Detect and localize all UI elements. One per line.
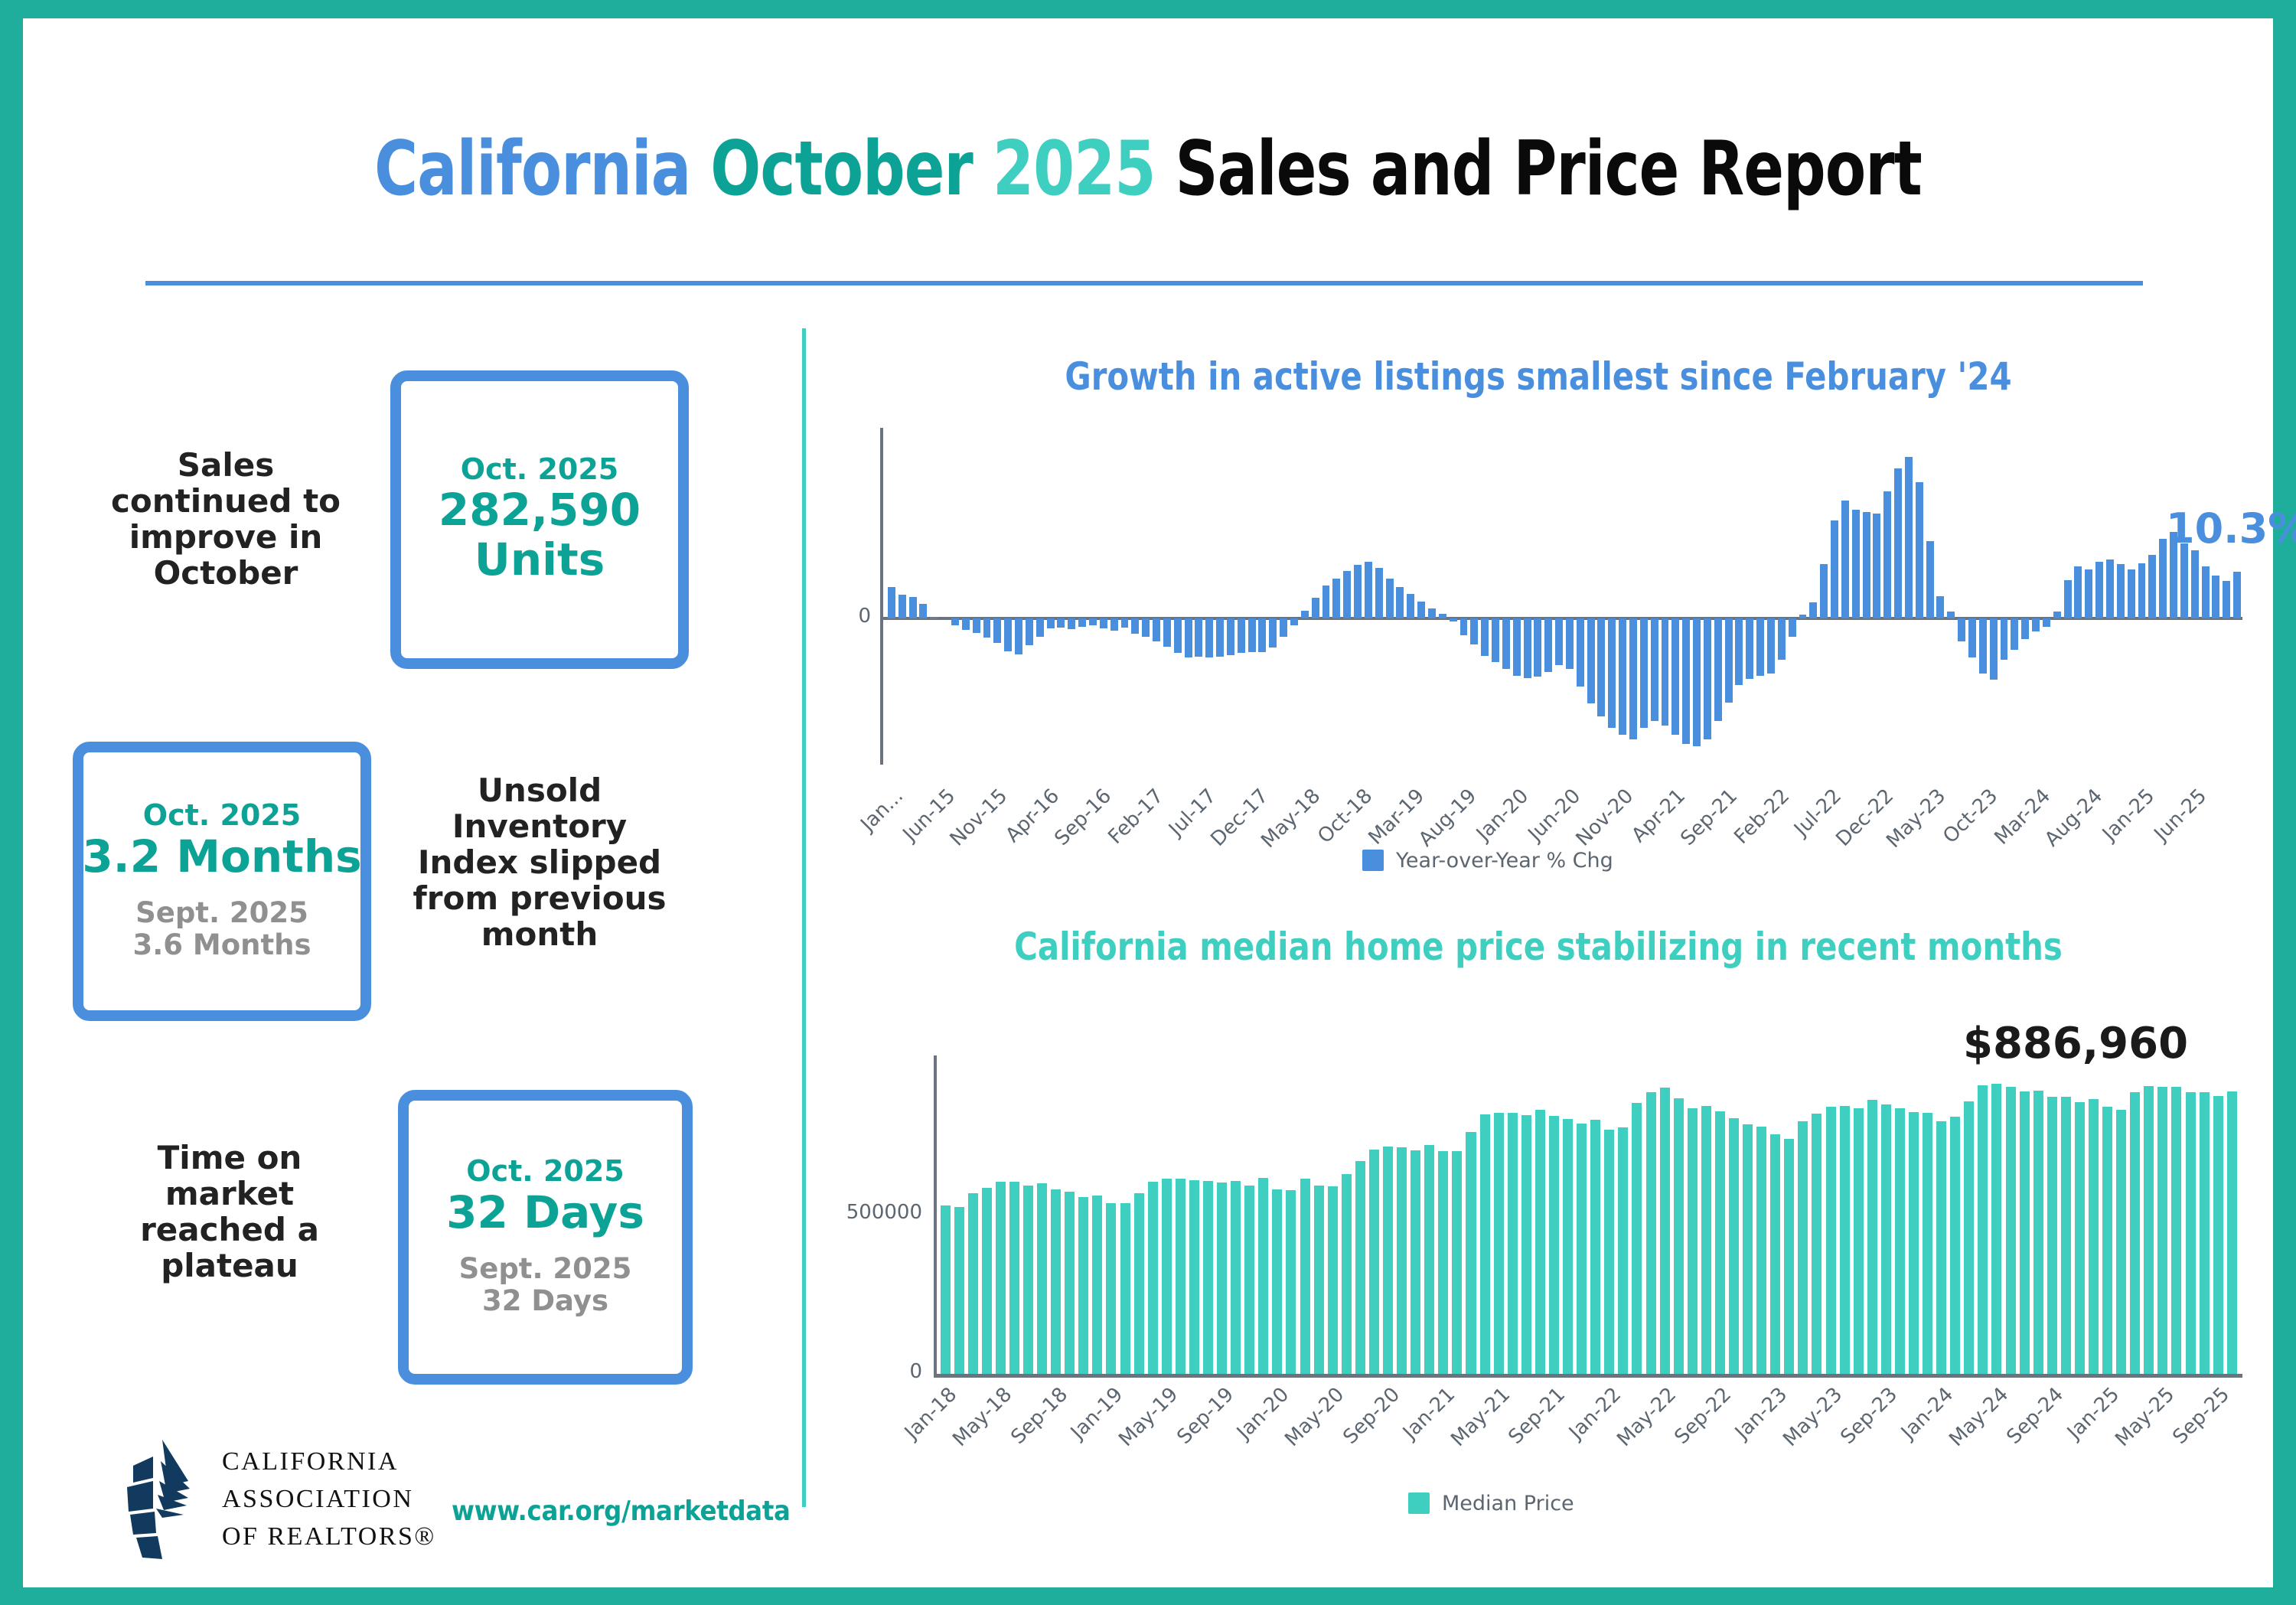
bar-slot xyxy=(2094,428,2105,765)
bar xyxy=(1789,618,1796,637)
bar xyxy=(962,618,970,630)
bar-slot xyxy=(1755,1055,1769,1374)
bar-slot xyxy=(1949,1055,1962,1374)
bar xyxy=(1481,618,1489,656)
bar-slot xyxy=(1713,428,1724,765)
bar-slot xyxy=(2225,1055,2239,1374)
bar-slot xyxy=(1416,428,1427,765)
bar xyxy=(1411,1150,1420,1373)
bar xyxy=(2011,618,2018,649)
bar xyxy=(1502,618,1510,668)
bar xyxy=(1195,618,1202,657)
bar-slot xyxy=(1522,428,1533,765)
bar-slot xyxy=(2059,1055,2073,1374)
bar xyxy=(1534,618,1541,677)
website-url[interactable]: www.car.org/marketdata xyxy=(452,1496,791,1527)
bar xyxy=(1991,1084,2001,1373)
bar-slot xyxy=(1617,428,1628,765)
bar xyxy=(1244,1186,1254,1373)
logo-line-1: CALIFORNIA xyxy=(222,1443,436,1480)
bar xyxy=(1840,1106,1850,1373)
bar-slot xyxy=(1321,428,1332,765)
caption-line: market xyxy=(115,1176,344,1212)
bar-slot xyxy=(2170,1055,2183,1374)
bar-slot xyxy=(1066,428,1077,765)
bar-slot xyxy=(1967,428,1978,765)
bar xyxy=(1947,612,1955,618)
bar xyxy=(2061,1097,2071,1374)
bar xyxy=(1460,618,1468,634)
infographic-poster: California October 2025 Sales and Price … xyxy=(23,18,2273,1587)
car-logo-text: CALIFORNIA ASSOCIATION OF REALTORS® xyxy=(222,1443,436,1556)
bar-slot xyxy=(1978,428,1988,765)
bar-slot xyxy=(2115,428,2126,765)
bar xyxy=(1290,618,1298,625)
bar xyxy=(1979,618,1987,673)
bar xyxy=(1978,1085,1988,1373)
bar xyxy=(2085,569,2092,618)
bar xyxy=(1704,618,1711,739)
bar xyxy=(888,587,895,619)
bar xyxy=(1078,1197,1088,1374)
bar xyxy=(1714,618,1722,721)
bar xyxy=(983,618,991,638)
bar xyxy=(1189,1180,1199,1374)
bar-slot xyxy=(2052,428,2063,765)
bar-slot xyxy=(1988,428,1999,765)
bar-slot xyxy=(1405,428,1416,765)
bar xyxy=(1863,512,1870,619)
bar xyxy=(1216,618,1224,656)
bar-slot xyxy=(1741,1055,1755,1374)
bar xyxy=(968,1193,978,1373)
bar-slot xyxy=(1755,428,1766,765)
caption-line: from previous xyxy=(398,880,681,916)
bar-slot xyxy=(1893,428,1903,765)
bar-slot xyxy=(1532,428,1543,765)
bar xyxy=(1873,514,1880,618)
plot-area: 0 Jan...Jun-15Nov-15Apr-16Sep-16Feb-17Ju… xyxy=(880,428,2242,788)
bar xyxy=(1131,618,1139,634)
caption-time-on-market: Time onmarketreached aplateau xyxy=(115,1140,344,1284)
bar-slot xyxy=(1851,428,1861,765)
bar-slot xyxy=(1021,1055,1035,1374)
bar-slot xyxy=(1450,1055,1464,1374)
stat-month-label: Oct. 2025 xyxy=(461,454,618,486)
bar xyxy=(1812,1114,1821,1373)
bar xyxy=(1332,579,1340,618)
bar-slot xyxy=(1766,428,1776,765)
legend-label: Median Price xyxy=(1442,1492,1574,1515)
bar-slot xyxy=(938,1055,952,1374)
bar-slot xyxy=(1363,428,1374,765)
bar-slot xyxy=(918,428,929,765)
bar-slot xyxy=(971,428,982,765)
bar xyxy=(1597,618,1605,716)
bar-slot xyxy=(980,1055,993,1374)
bar xyxy=(1015,618,1022,654)
bar-slot xyxy=(1734,428,1745,765)
bar-slot xyxy=(1879,1055,1893,1374)
bar xyxy=(2148,555,2156,618)
bar xyxy=(2144,1086,2154,1373)
stat-card-days-on-market: Oct. 2025 32 Days Sept. 2025 32 Days xyxy=(398,1090,693,1385)
bar xyxy=(1608,618,1616,728)
bar-slot xyxy=(960,428,971,765)
bar-slot xyxy=(1270,1055,1284,1374)
bar-slot xyxy=(1596,428,1607,765)
bar-slot xyxy=(966,1055,980,1374)
bar xyxy=(2006,1087,2016,1373)
bar-slot xyxy=(1132,1055,1146,1374)
bar-slot xyxy=(1353,1055,1367,1374)
bar-slot xyxy=(1151,428,1162,765)
bar xyxy=(2128,569,2135,618)
bar-slot xyxy=(1554,428,1564,765)
bar xyxy=(1524,618,1531,677)
bar-slot xyxy=(928,428,939,765)
caption-line: month xyxy=(398,916,681,952)
bar-slot xyxy=(1882,428,1893,765)
bar xyxy=(1248,618,1256,652)
bar-slot xyxy=(2009,428,2020,765)
bar-slot xyxy=(993,1055,1007,1374)
bar xyxy=(2130,1092,2140,1374)
bar xyxy=(1555,618,1563,665)
bar xyxy=(1784,1139,1794,1374)
chart-legend: Median Price xyxy=(1408,1492,1574,1515)
bar xyxy=(1909,1112,1919,1374)
bar-slot xyxy=(2031,1055,2045,1374)
bar-slot xyxy=(1331,428,1342,765)
bar-slot xyxy=(1564,428,1575,765)
bar xyxy=(1964,1101,1974,1373)
bar-slot xyxy=(1796,1055,1810,1374)
bar-slot xyxy=(1999,428,2010,765)
bar xyxy=(1036,618,1044,637)
bar-slot xyxy=(1193,428,1204,765)
bar-slot xyxy=(1810,1055,1824,1374)
logo-line-2: ASSOCIATION xyxy=(222,1480,436,1518)
y-tick-label-zero: 0 xyxy=(819,1360,922,1383)
bar-slot xyxy=(1326,1055,1339,1374)
bar xyxy=(1227,618,1234,655)
bar xyxy=(1163,618,1171,647)
stat-unit: Units xyxy=(475,535,605,585)
bar-slot xyxy=(1310,428,1321,765)
bar-slot xyxy=(1247,428,1257,765)
bar-slot xyxy=(1300,428,1310,765)
bar xyxy=(930,618,938,618)
bar xyxy=(2157,1087,2167,1373)
bar-slot xyxy=(2004,1055,2017,1374)
bar xyxy=(1923,1113,1932,1373)
bar-slot xyxy=(1339,1055,1353,1374)
bar xyxy=(2095,562,2103,618)
bar-slot xyxy=(1204,428,1215,765)
bar-slot xyxy=(1962,1055,1976,1374)
bar xyxy=(1798,1121,1808,1373)
bar-slot xyxy=(1691,428,1702,765)
bar-slot xyxy=(1744,428,1755,765)
bar xyxy=(1756,618,1764,676)
bar xyxy=(2223,581,2230,618)
bar xyxy=(993,618,1001,643)
bar xyxy=(1280,618,1287,637)
bar xyxy=(1521,1115,1531,1374)
car-logo-mark xyxy=(122,1438,207,1561)
bar xyxy=(1950,1117,1960,1373)
bar-slot xyxy=(2045,1055,2059,1374)
y-tick-label-500000: 500000 xyxy=(819,1201,922,1224)
bar xyxy=(1480,1114,1490,1374)
bar-slot xyxy=(1172,428,1183,765)
caption-line: Sales xyxy=(99,447,352,483)
bar-slot xyxy=(2115,1055,2128,1374)
bar xyxy=(1566,618,1574,668)
bar xyxy=(1725,618,1733,703)
bar xyxy=(1417,602,1425,619)
bar xyxy=(1300,1179,1310,1374)
bar-slot xyxy=(1727,1055,1740,1374)
bar-slot xyxy=(1384,428,1395,765)
bar xyxy=(1841,501,1849,619)
car-logo: CALIFORNIA ASSOCIATION OF REALTORS® xyxy=(122,1438,436,1561)
bar-slot xyxy=(1976,1055,1990,1374)
bar xyxy=(941,1205,951,1374)
chart-legend: Year-over-Year % Chg xyxy=(1362,849,1613,873)
bar-slot xyxy=(1903,428,1914,765)
bar xyxy=(1386,579,1394,618)
bar xyxy=(1767,618,1775,673)
bar xyxy=(1162,1179,1172,1373)
bar-slot xyxy=(1893,1055,1906,1374)
bar xyxy=(1026,618,1033,644)
plot-area: 0 500000 Jan-18May-18Sep-18Jan-19May-19S… xyxy=(934,1055,2242,1377)
bar xyxy=(1439,614,1446,618)
bar-series xyxy=(938,1055,2239,1374)
bar-slot xyxy=(1787,428,1798,765)
bar-slot xyxy=(1183,428,1194,765)
bar-slot xyxy=(1644,1055,1658,1374)
bar-slot xyxy=(1702,428,1713,765)
chart-title: California median home price stabilizing… xyxy=(883,925,2193,969)
bar-slot xyxy=(1543,428,1554,765)
bar-slot xyxy=(1906,1055,1920,1374)
bar xyxy=(996,1182,1006,1373)
bar xyxy=(1301,611,1309,619)
bar-slot xyxy=(2147,428,2157,765)
bar xyxy=(1852,510,1860,619)
chart-title: Growth in active listings smallest since… xyxy=(883,355,2193,399)
bar-slot xyxy=(1921,1055,1935,1374)
stat-value: 3.2 Months xyxy=(82,832,361,882)
bar-slot xyxy=(1713,1055,1727,1374)
bar-slot xyxy=(1381,1055,1395,1374)
legend-swatch-icon xyxy=(1362,850,1384,871)
bar-slot xyxy=(1660,428,1671,765)
bar xyxy=(2001,618,2008,660)
bar xyxy=(2106,559,2114,618)
bar xyxy=(1883,491,1891,618)
caption-line: Inventory xyxy=(398,808,681,844)
bar-slot xyxy=(1990,1055,2004,1374)
bar-slot xyxy=(1063,1055,1077,1374)
bar xyxy=(1312,598,1319,618)
legend-swatch-icon xyxy=(1408,1492,1430,1514)
left-summary-panel: Salescontinued toimprove inOctober Oct. … xyxy=(92,325,781,1549)
bar xyxy=(2021,618,2029,639)
bar-slot xyxy=(1049,1055,1063,1374)
bar-slot xyxy=(2156,1055,2170,1374)
bar xyxy=(1269,618,1277,648)
bar-slot xyxy=(1824,1055,1838,1374)
bar xyxy=(1134,1193,1144,1373)
caption-inventory: UnsoldInventoryIndex slippedfrom previou… xyxy=(398,772,681,952)
bar xyxy=(1176,1179,1186,1373)
bar xyxy=(1355,1161,1365,1373)
bar-slot xyxy=(1630,1055,1644,1374)
bar xyxy=(1142,618,1150,637)
bar xyxy=(1120,1203,1130,1373)
bar-slot xyxy=(1808,428,1818,765)
bar xyxy=(2089,1099,2099,1373)
chart-median-price: California median home price stabilizing… xyxy=(834,925,2242,1522)
bar-slot xyxy=(2142,1055,2156,1374)
bar xyxy=(1820,564,1828,618)
bar-slot xyxy=(992,428,1003,765)
bar-slot xyxy=(1077,1055,1091,1374)
bar-slot xyxy=(1945,428,1956,765)
bar-slot xyxy=(1427,428,1437,765)
bar-slot xyxy=(1699,1055,1713,1374)
bar xyxy=(1651,618,1658,721)
bar-slot xyxy=(1818,428,1829,765)
bar-slot xyxy=(1861,428,1872,765)
bar-slot xyxy=(1201,1055,1215,1374)
bar-slot xyxy=(2137,428,2148,765)
bar xyxy=(1926,541,1934,618)
bar-slot xyxy=(2232,428,2242,765)
vertical-divider xyxy=(802,328,806,1507)
bar-slot xyxy=(982,428,993,765)
stat-card-inventory: Oct. 2025 3.2 Months Sept. 2025 3.6 Mont… xyxy=(73,742,371,1021)
bar xyxy=(919,604,927,619)
bar-slot xyxy=(1098,428,1109,765)
bar-slot xyxy=(1914,428,1925,765)
bar xyxy=(2191,550,2199,618)
bar xyxy=(1110,618,1118,630)
bar-slot xyxy=(1013,428,1024,765)
bar-slot xyxy=(1519,1055,1533,1374)
bar-slot xyxy=(1173,1055,1187,1374)
caption-line: Index slipped xyxy=(398,844,681,880)
bar-slot xyxy=(1130,428,1140,765)
bar-slot xyxy=(1118,1055,1132,1374)
bar xyxy=(1508,1113,1518,1373)
bar xyxy=(1354,565,1362,618)
bar xyxy=(1895,1108,1905,1374)
bar-slot xyxy=(1769,1055,1782,1374)
bar-slot xyxy=(2200,428,2211,765)
bar xyxy=(1735,618,1743,685)
bar-slot xyxy=(2126,428,2137,765)
bar xyxy=(2053,612,2061,618)
bar-slot xyxy=(2073,1055,2086,1374)
bar-slot xyxy=(1512,428,1522,765)
bar-slot xyxy=(1448,428,1459,765)
bar-slot xyxy=(897,428,908,765)
bar-slot xyxy=(1547,1055,1561,1374)
bar xyxy=(2064,580,2072,619)
bar xyxy=(1743,1124,1753,1373)
bar xyxy=(1047,618,1055,628)
bar-slot xyxy=(1865,1055,1879,1374)
bar-slot xyxy=(1464,1055,1478,1374)
bar xyxy=(1121,618,1129,628)
bar xyxy=(1466,1132,1476,1374)
bar-slot xyxy=(1490,428,1501,765)
bar xyxy=(1153,618,1160,641)
bar-slot xyxy=(1187,1055,1201,1374)
bar xyxy=(1322,586,1330,618)
bar-series xyxy=(886,428,2242,765)
bar-slot xyxy=(908,428,918,765)
bar xyxy=(1004,618,1012,651)
bar-slot xyxy=(1088,428,1098,765)
title-divider-rule xyxy=(145,281,2143,285)
bar-slot xyxy=(2020,428,2030,765)
bar-slot xyxy=(1077,428,1088,765)
bar-slot xyxy=(1104,1055,1118,1374)
bar-slot xyxy=(939,428,950,765)
bar-slot xyxy=(1003,428,1013,765)
bar-slot xyxy=(2086,1055,2100,1374)
bar-slot xyxy=(886,428,897,765)
bar-slot xyxy=(1035,1055,1049,1374)
bar xyxy=(1729,1118,1739,1374)
bar xyxy=(1894,468,1902,618)
bar xyxy=(1936,596,1944,619)
bar-slot xyxy=(2211,1055,2225,1374)
bar xyxy=(1258,618,1266,652)
bar xyxy=(1343,571,1351,618)
bar xyxy=(1342,1174,1352,1374)
bar xyxy=(973,618,980,633)
bar xyxy=(1682,618,1690,744)
bar-slot xyxy=(1045,428,1056,765)
bar xyxy=(1286,1190,1296,1373)
bar xyxy=(899,595,906,618)
bar-slot xyxy=(2105,428,2115,765)
stat-prev-month: Sept. 2025 xyxy=(459,1253,632,1286)
bar xyxy=(1799,615,1807,618)
stat-value: 282,590 xyxy=(439,485,641,535)
bar xyxy=(2212,576,2219,618)
bar-slot xyxy=(1267,428,1278,765)
bar-slot xyxy=(2041,428,2052,765)
bar-slot xyxy=(1616,1055,1630,1374)
bar-slot xyxy=(1589,1055,1603,1374)
bar xyxy=(1662,618,1669,726)
bar-slot xyxy=(1505,1055,1519,1374)
bar-slot xyxy=(1024,428,1035,765)
bar-slot xyxy=(1243,1055,1257,1374)
bar xyxy=(1396,587,1404,619)
bar xyxy=(2180,543,2188,618)
bar-slot xyxy=(1342,428,1352,765)
bar-slot xyxy=(2017,1055,2031,1374)
